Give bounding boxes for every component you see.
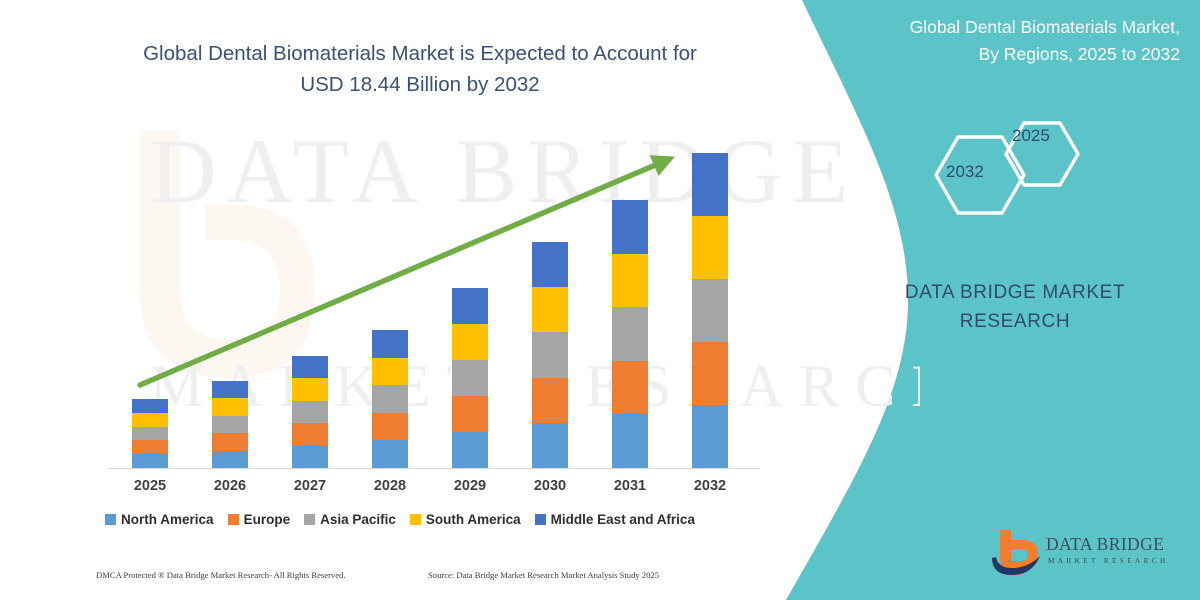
bar-segment-europe-2028 <box>372 413 408 441</box>
legend-swatch-icon <box>228 514 239 525</box>
legend-label: Asia Pacific <box>320 512 396 527</box>
bar-segment-asia-pacific-2030 <box>532 332 568 377</box>
bar-segment-asia-pacific-2032 <box>692 279 728 342</box>
bar-segment-south-america-2031 <box>612 254 648 308</box>
x-axis-label-2031: 2031 <box>590 478 670 494</box>
legend-swatch-icon <box>410 514 421 525</box>
x-axis-label-2028: 2028 <box>350 478 430 494</box>
bar-segment-south-america-2027 <box>292 378 328 400</box>
x-axis-label-2025: 2025 <box>110 478 190 494</box>
bar-column-2032 <box>692 153 728 468</box>
bar-segment-europe-2031 <box>612 361 648 415</box>
bar-segment-asia-pacific-2029 <box>452 360 488 396</box>
bar-column-2025 <box>132 399 168 468</box>
infographic-root: DATA BRIDGE MARKET RESEARCH Global Denta… <box>0 0 1200 600</box>
bar-segment-middle-east-and-africa-2030 <box>532 242 568 287</box>
legend-label: South America <box>426 512 521 527</box>
footer-copyright: DMCA Protected ® Data Bridge Market Rese… <box>96 570 346 580</box>
bar-segment-europe-2029 <box>452 396 488 432</box>
data-bridge-logo[interactable]: DATA BRIDGE MARKET RESEARCH <box>990 528 1190 586</box>
bar-segment-middle-east-and-africa-2029 <box>452 288 488 324</box>
bar-column-2031 <box>612 200 648 468</box>
bar-segment-south-america-2025 <box>132 413 168 427</box>
x-axis-label-2030: 2030 <box>510 478 590 494</box>
chart-legend: North AmericaEuropeAsia PacificSouth Ame… <box>0 512 800 527</box>
chart-title: Global Dental Biomaterials Market is Exp… <box>60 38 780 100</box>
dbmr-mark-icon <box>990 528 1044 578</box>
bar-segment-middle-east-and-africa-2031 <box>612 200 648 254</box>
watermark-line-2: MARKET RESEARCH <box>150 352 920 421</box>
watermark-line-1: DATA BRIDGE <box>150 118 858 224</box>
legend-item-asia-pacific[interactable]: Asia Pacific <box>304 512 396 527</box>
hexagon-label-2032: 2032 <box>946 162 984 182</box>
legend-swatch-icon <box>105 514 116 525</box>
hexagon-label-2025: 2025 <box>1012 126 1050 146</box>
chart-title-line-1: Global Dental Biomaterials Market is Exp… <box>60 38 780 69</box>
panel-title-line-2: By Regions, 2025 to 2032 <box>830 41 1180 68</box>
bar-column-2030 <box>532 242 568 468</box>
legend-label: Europe <box>244 512 291 527</box>
bar-segment-asia-pacific-2028 <box>372 385 408 413</box>
legend-item-middle-east-and-africa[interactable]: Middle East and Africa <box>535 512 695 527</box>
x-axis-label-2027: 2027 <box>270 478 350 494</box>
bar-segment-middle-east-and-africa-2026 <box>212 381 248 398</box>
bar-segment-europe-2030 <box>532 378 568 423</box>
bar-segment-asia-pacific-2025 <box>132 427 168 441</box>
bar-segment-north-america-2026 <box>212 451 248 468</box>
legend-label: Middle East and Africa <box>551 512 695 527</box>
x-axis-label-2032: 2032 <box>670 478 750 494</box>
bar-segment-middle-east-and-africa-2025 <box>132 399 168 413</box>
bar-segment-asia-pacific-2026 <box>212 416 248 433</box>
bar-segment-south-america-2032 <box>692 216 728 279</box>
bar-segment-asia-pacific-2027 <box>292 401 328 423</box>
bar-segment-europe-2026 <box>212 433 248 450</box>
x-axis-line <box>108 468 760 469</box>
x-axis-label-2029: 2029 <box>430 478 510 494</box>
bar-segment-south-america-2030 <box>532 287 568 332</box>
bar-segment-europe-2032 <box>692 342 728 405</box>
bar-segment-north-america-2027 <box>292 446 328 468</box>
dbmr-logo-sub-text: MARKET RESEARCH <box>1048 557 1169 565</box>
bar-segment-south-america-2028 <box>372 358 408 386</box>
dbmr-logo-main-text: DATA BRIDGE <box>1046 534 1164 555</box>
legend-label: North America <box>121 512 214 527</box>
bar-column-2026 <box>212 381 248 468</box>
legend-swatch-icon <box>304 514 315 525</box>
bar-segment-middle-east-and-africa-2032 <box>692 153 728 216</box>
bar-segment-north-america-2032 <box>692 405 728 468</box>
bar-segment-asia-pacific-2031 <box>612 307 648 361</box>
panel-title-line-1: Global Dental Biomaterials Market, <box>830 14 1180 41</box>
bar-segment-north-america-2029 <box>452 432 488 468</box>
hexagon-badges: 2032 2025 <box>918 110 1118 240</box>
panel-brand-text: DATA BRIDGE MARKET RESEARCH <box>860 278 1170 336</box>
footer-source: Source: Data Bridge Market Research Mark… <box>428 570 659 580</box>
bar-segment-north-america-2031 <box>612 414 648 468</box>
legend-swatch-icon <box>535 514 546 525</box>
chart-title-line-2: USD 18.44 Billion by 2032 <box>60 69 780 100</box>
bar-column-2027 <box>292 356 328 468</box>
bar-column-2029 <box>452 288 488 468</box>
legend-item-south-america[interactable]: South America <box>410 512 521 527</box>
bar-segment-south-america-2029 <box>452 324 488 360</box>
bar-segment-north-america-2028 <box>372 440 408 468</box>
legend-item-europe[interactable]: Europe <box>228 512 291 527</box>
bar-segment-north-america-2030 <box>532 423 568 468</box>
bar-segment-middle-east-and-africa-2027 <box>292 356 328 378</box>
bar-column-2028 <box>372 330 408 468</box>
panel-title: Global Dental Biomaterials Market, By Re… <box>830 14 1180 68</box>
panel-brand-line-2: RESEARCH <box>860 307 1170 336</box>
legend-item-north-america[interactable]: North America <box>105 512 214 527</box>
bar-segment-europe-2025 <box>132 440 168 454</box>
bar-segment-middle-east-and-africa-2028 <box>372 330 408 358</box>
bar-segment-europe-2027 <box>292 423 328 445</box>
watermark-b-logo-icon <box>110 120 330 420</box>
x-axis-label-2026: 2026 <box>190 478 270 494</box>
panel-brand-line-1: DATA BRIDGE MARKET <box>860 278 1170 307</box>
bar-segment-south-america-2026 <box>212 398 248 415</box>
bar-segment-north-america-2025 <box>132 454 168 468</box>
